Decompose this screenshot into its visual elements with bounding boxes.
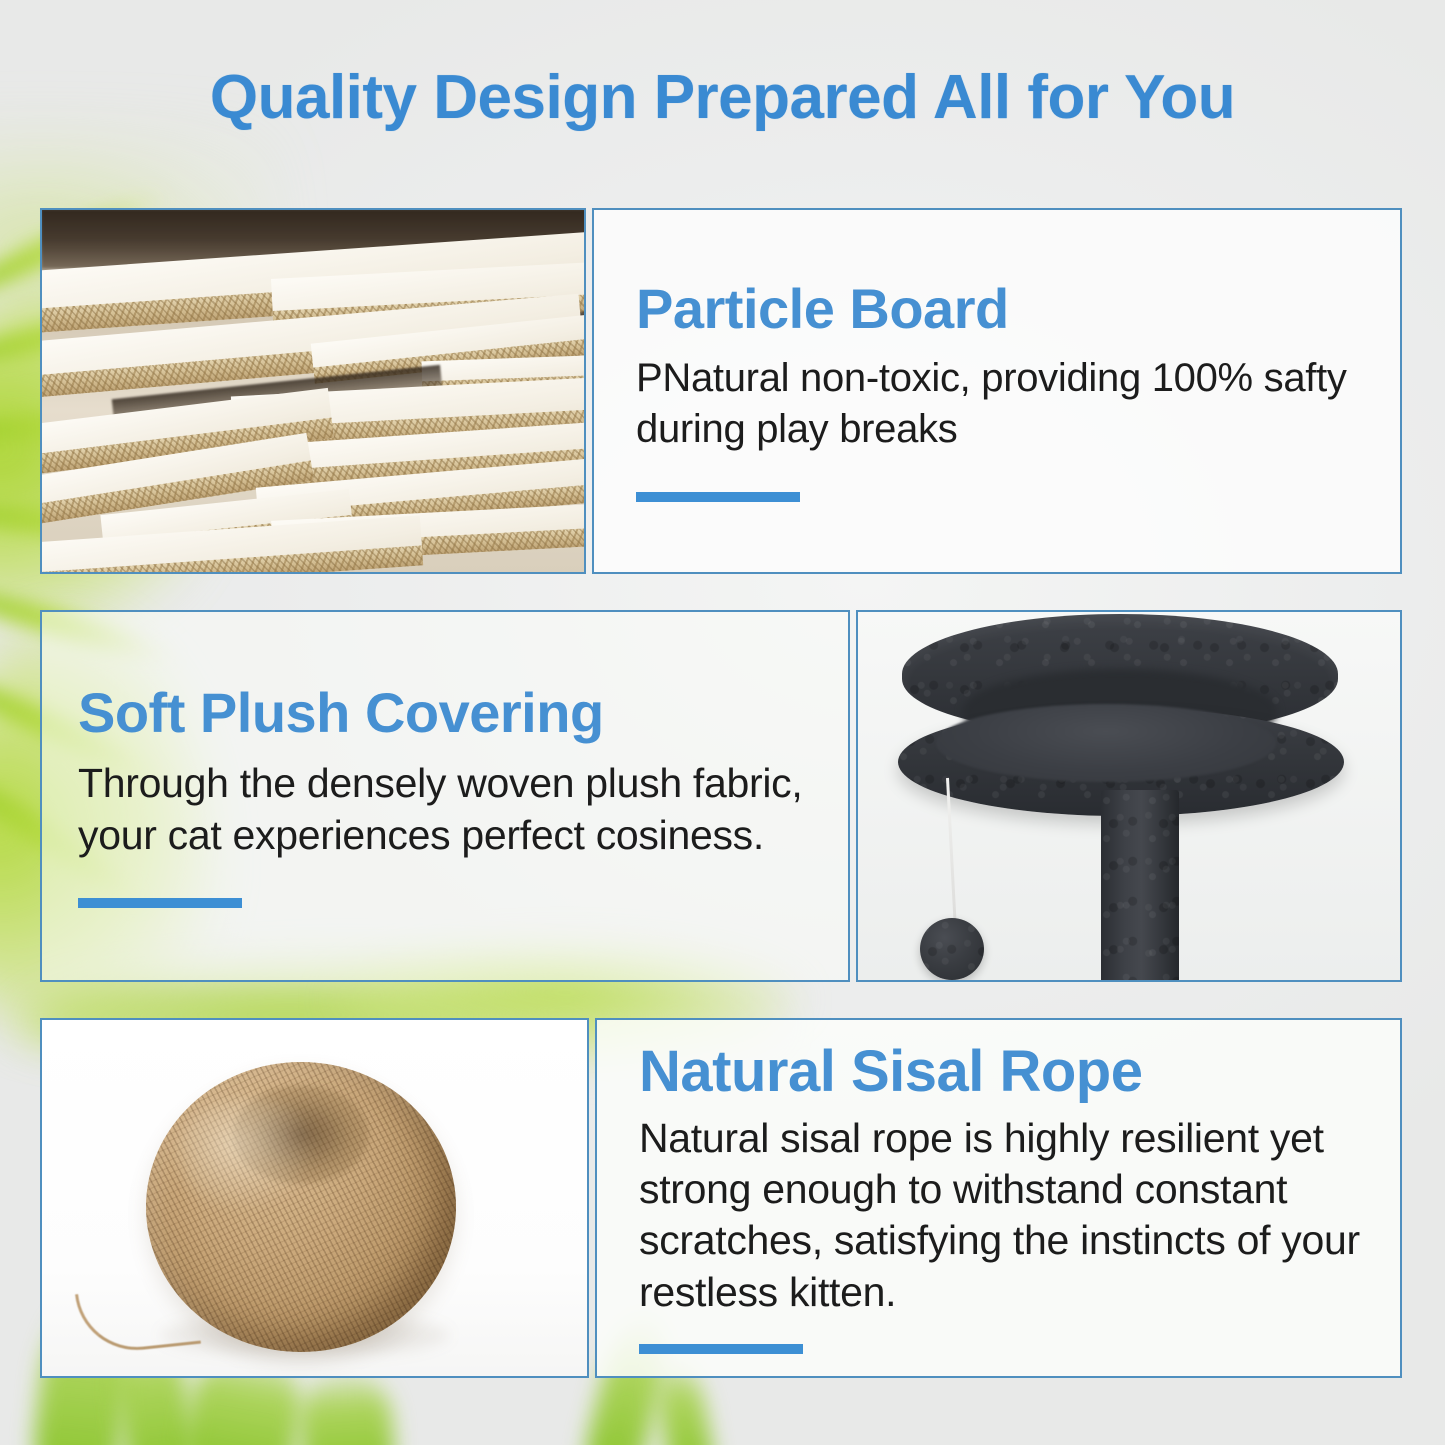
card-body-particle-board: PNatural non-toxic, providing 100% safty…	[636, 353, 1370, 455]
card-body-natural-sisal-rope: Natural sisal rope is highly resilient y…	[639, 1113, 1376, 1318]
stacked-particle-boards-illustration	[42, 210, 584, 572]
toy-hanging-string	[946, 778, 957, 926]
product-feature-infographic: Quality Design Prepared All for You	[0, 0, 1445, 1445]
soft-plush-text-panel: Soft Plush Covering Through the densely …	[40, 610, 850, 982]
feature-card-natural-sisal-rope: Natural Sisal Rope Natural sisal rope is…	[40, 1018, 1402, 1378]
feature-card-particle-board: Particle Board PNatural non-toxic, provi…	[40, 208, 1402, 574]
particle-board-text-panel: Particle Board PNatural non-toxic, provi…	[592, 208, 1402, 574]
cat-tree-support-post	[1101, 790, 1179, 982]
card-heading-soft-plush-covering: Soft Plush Covering	[78, 684, 824, 743]
page-title: Quality Design Prepared All for You	[0, 62, 1445, 133]
accent-bar-soft-plush-covering	[78, 898, 242, 908]
cat-tree-plush-perch-illustration	[858, 612, 1400, 980]
twine-loose-end	[75, 1282, 201, 1356]
card-heading-particle-board: Particle Board	[636, 280, 1370, 339]
sisal-twine-ball-illustration	[42, 1020, 587, 1376]
card-body-soft-plush-covering: Through the densely woven plush fabric, …	[78, 757, 824, 862]
card-heading-natural-sisal-rope: Natural Sisal Rope	[639, 1042, 1376, 1103]
cat-tree-image-panel	[856, 610, 1402, 982]
pom-pom-toy-ball	[920, 918, 984, 980]
perch-seat-surface	[936, 704, 1276, 782]
feature-card-soft-plush-covering: Soft Plush Covering Through the densely …	[40, 610, 1402, 982]
sisal-rope-image-panel	[40, 1018, 589, 1378]
particle-board-image-panel	[40, 208, 586, 574]
accent-bar-natural-sisal-rope	[639, 1344, 803, 1354]
accent-bar-particle-board	[636, 492, 800, 502]
sisal-rope-text-panel: Natural Sisal Rope Natural sisal rope is…	[595, 1018, 1402, 1378]
